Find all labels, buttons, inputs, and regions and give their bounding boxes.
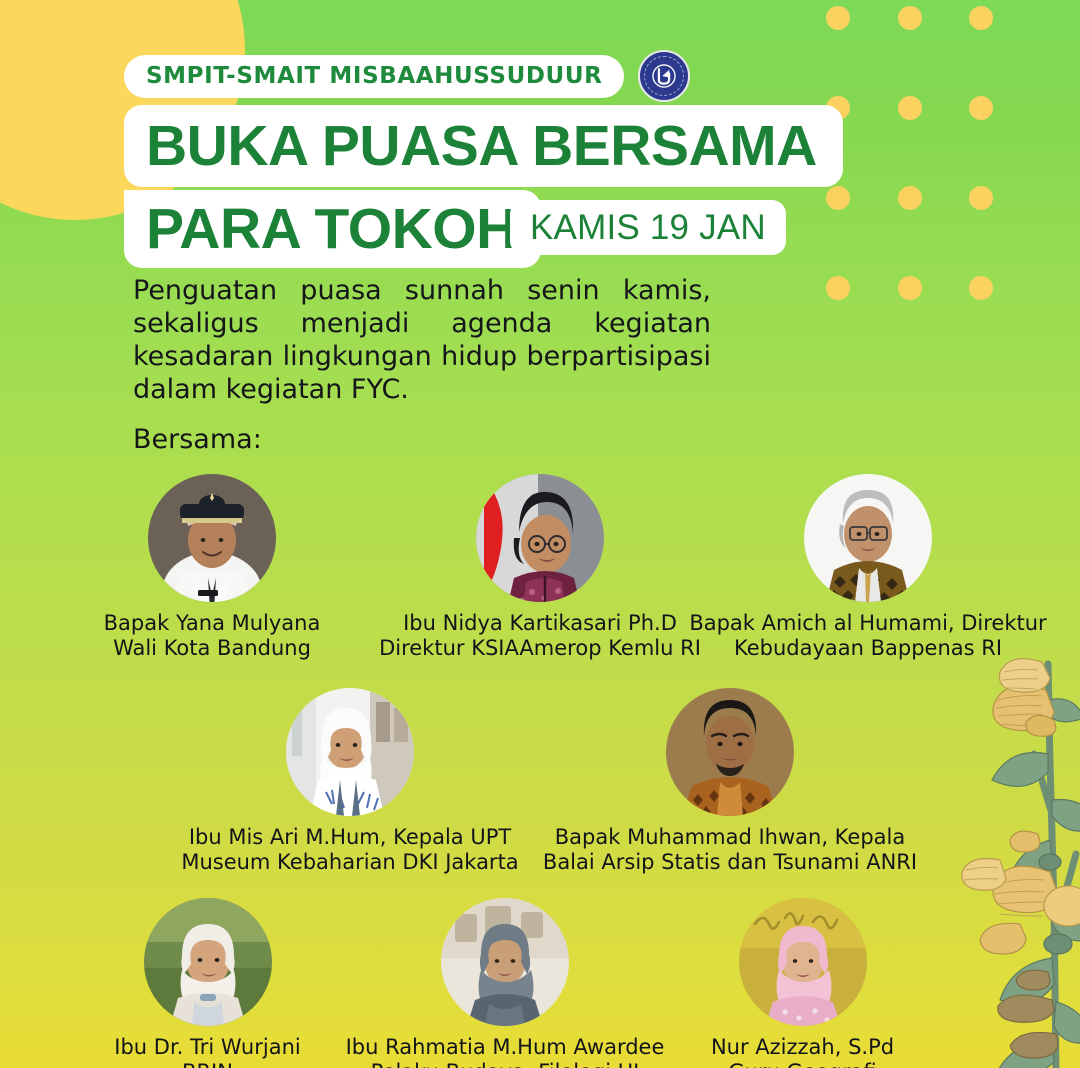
avatar [148, 474, 276, 602]
dot-cell [898, 6, 970, 96]
dot-cell [826, 276, 898, 366]
speaker-name: Bapak Yana Mulyana [104, 611, 321, 636]
header-row: SMPIT-SMAIT MISBAAHUSSUDUUR [124, 50, 690, 102]
speaker-caption: Bapak Muhammad Ihwan, Kepala Balai Arsip… [543, 825, 917, 875]
speaker-caption: Ibu Nidya Kartikasari Ph.D Direktur KSIA… [379, 611, 701, 661]
speaker-row-1: Bapak Yana Mulyana Wali Kota Bandung Ibu… [62, 474, 1018, 661]
speaker-caption: Ibu Rahmatia M.Hum Awardee Pelaku Budaya… [346, 1035, 665, 1068]
speaker-role: Balai Arsip Statis dan Tsunami ANRI [543, 850, 917, 875]
dot-icon [898, 96, 922, 120]
dot-icon [898, 186, 922, 210]
yellow-dot-grid-decoration [826, 6, 1041, 366]
speaker-card: Ibu Dr. Tri Wurjani BRIN [60, 898, 355, 1068]
speaker-role: BRIN [114, 1060, 300, 1068]
dot-cell [898, 186, 970, 276]
speaker-name: Ibu Nidya Kartikasari Ph.D [379, 611, 701, 636]
speaker-caption: Ibu Mis Ari M.Hum, Kepala UPT Museum Keb… [181, 825, 518, 875]
speaker-caption: Ibu Dr. Tri Wurjani BRIN [114, 1035, 300, 1068]
speaker-card: Bapak Amich al Humami, Direktur Kebudaya… [718, 474, 1018, 661]
dot-cell [826, 186, 898, 276]
school-name-badge: SMPIT-SMAIT MISBAAHUSSUDUUR [124, 55, 624, 98]
dot-icon [826, 6, 850, 30]
speaker-card: Ibu Rahmatia M.Hum Awardee Pelaku Budaya… [355, 898, 655, 1068]
avatar [144, 898, 272, 1026]
speaker-row-3: Ibu Dr. Tri Wurjani BRIN Ibu Rahmatia M.… [60, 898, 950, 1068]
dot-icon [898, 6, 922, 30]
dot-icon [826, 276, 850, 300]
botanical-flower-decoration [938, 604, 1080, 1068]
speaker-caption: Nur Azizzah, S.Pd Guru Geografi [711, 1035, 894, 1068]
speaker-role: Museum Kebaharian DKI Jakarta [181, 850, 518, 875]
dot-icon [969, 186, 993, 210]
dot-icon [826, 186, 850, 210]
poster-title-line-1: BUKA PUASA BERSAMA [124, 105, 843, 187]
dot-cell [969, 6, 1041, 96]
dot-cell [969, 186, 1041, 276]
speaker-caption: Bapak Amich al Humami, Direktur Kebudaya… [689, 611, 1046, 661]
speaker-name: Ibu Mis Ari M.Hum, Kepala UPT [181, 825, 518, 850]
speaker-card: Ibu Nidya Kartikasari Ph.D Direktur KSIA… [390, 474, 690, 661]
dot-cell [969, 276, 1041, 366]
event-description: Penguatan puasa sunnah senin kamis, seka… [133, 274, 711, 406]
speaker-caption: Bapak Yana Mulyana Wali Kota Bandung [104, 611, 321, 661]
dot-icon [969, 96, 993, 120]
speaker-card: Bapak Muhammad Ihwan, Kepala Balai Arsip… [550, 688, 910, 875]
avatar [286, 688, 414, 816]
event-poster: SMPIT-SMAIT MISBAAHUSSUDUUR BUKA PUASA B… [0, 0, 1080, 1068]
avatar [804, 474, 932, 602]
speaker-name: Nur Azizzah, S.Pd [711, 1035, 894, 1060]
event-date-badge: KAMIS 19 JAN [510, 200, 786, 255]
dot-icon [898, 276, 922, 300]
speaker-card: Nur Azizzah, S.Pd Guru Geografi [655, 898, 950, 1068]
avatar [739, 898, 867, 1026]
school-logo-icon [638, 50, 690, 102]
speaker-card: Bapak Yana Mulyana Wali Kota Bandung [62, 474, 362, 661]
speaker-name: Bapak Amich al Humami, Direktur [689, 611, 1046, 636]
speaker-name: Ibu Rahmatia M.Hum Awardee [346, 1035, 665, 1060]
dot-cell [826, 6, 898, 96]
speaker-role: Wali Kota Bandung [104, 636, 321, 661]
dot-cell [898, 96, 970, 186]
speaker-card: Ibu Mis Ari M.Hum, Kepala UPT Museum Keb… [170, 688, 530, 875]
speaker-role: Kebudayaan Bappenas RI [689, 636, 1046, 661]
dot-cell [969, 96, 1041, 186]
event-description-text: Penguatan puasa sunnah senin kamis, seka… [133, 274, 711, 406]
speaker-name: Ibu Dr. Tri Wurjani [114, 1035, 300, 1060]
poster-title-line-2: PARA TOKOH [124, 190, 541, 268]
avatar [441, 898, 569, 1026]
speaker-name: Bapak Muhammad Ihwan, Kepala [543, 825, 917, 850]
dot-icon [969, 276, 993, 300]
speaker-role: Direktur KSIAAmerop Kemlu RI [379, 636, 701, 661]
speaker-row-2: Ibu Mis Ari M.Hum, Kepala UPT Museum Keb… [170, 688, 910, 875]
bersama-label: Bersama: [133, 424, 262, 455]
speaker-role: Guru Geografi [711, 1060, 894, 1068]
avatar [476, 474, 604, 602]
speaker-role: Pelaku Budaya, Filologi UI [346, 1060, 665, 1068]
dot-icon [969, 6, 993, 30]
dot-cell [898, 276, 970, 366]
avatar [666, 688, 794, 816]
